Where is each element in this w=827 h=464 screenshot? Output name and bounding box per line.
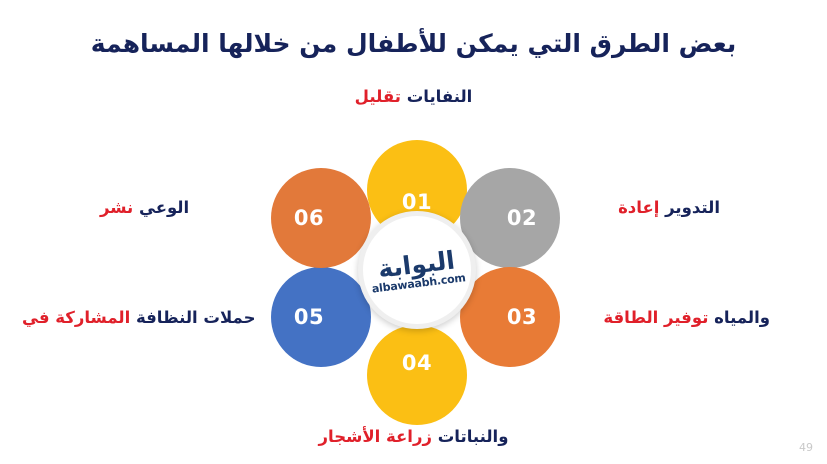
label-plant-trees-highlight: زراعة الأشجار	[319, 427, 432, 446]
label-reduce-waste-rest: النفايات	[407, 87, 473, 106]
label-reduce-waste: النفايات تقليل	[0, 86, 827, 107]
petal-03[interactable]: 03	[460, 267, 560, 367]
label-recycling: التدوير إعادة	[618, 197, 720, 218]
label-recycling-rest: التدوير	[665, 198, 720, 217]
petal-number-06: 06	[294, 206, 324, 230]
label-cleanup-campaigns-rest: حملات النظافة	[136, 308, 255, 327]
petal-number-05: 05	[294, 305, 324, 329]
petal-number-03: 03	[507, 305, 537, 329]
petal-02[interactable]: 02	[460, 168, 560, 268]
page-number: 49	[799, 441, 813, 454]
label-cleanup-campaigns-highlight: المشاركة في	[22, 308, 130, 327]
label-plant-trees: والنباتات زراعة الأشجار	[0, 426, 827, 447]
label-spread-awareness-highlight: نشر	[100, 198, 133, 217]
petal-05[interactable]: 05	[271, 267, 371, 367]
label-spread-awareness-rest: الوعي	[139, 198, 189, 217]
petal-number-02: 02	[507, 206, 537, 230]
petal-04[interactable]: 04	[367, 325, 467, 425]
label-reduce-waste-highlight: تقليل	[355, 87, 401, 106]
label-spread-awareness: الوعي نشر	[100, 197, 189, 218]
petal-number-04: 04	[402, 351, 432, 375]
label-recycling-highlight: إعادة	[618, 198, 659, 217]
center-logo: البوابة albawaabh.com	[358, 211, 476, 329]
label-cleanup-campaigns: حملات النظافة المشاركة في	[22, 307, 255, 328]
label-plant-trees-rest: والنباتات	[438, 427, 509, 446]
page-title: بعض الطرق التي يمكن للأطفال من خلالها ال…	[0, 28, 827, 59]
label-save-energy-water: والمياه توفير الطاقة	[603, 307, 770, 328]
label-save-energy-water-highlight: توفير الطاقة	[603, 308, 708, 327]
label-save-energy-water-rest: والمياه	[714, 308, 770, 327]
petal-06[interactable]: 06	[271, 168, 371, 268]
